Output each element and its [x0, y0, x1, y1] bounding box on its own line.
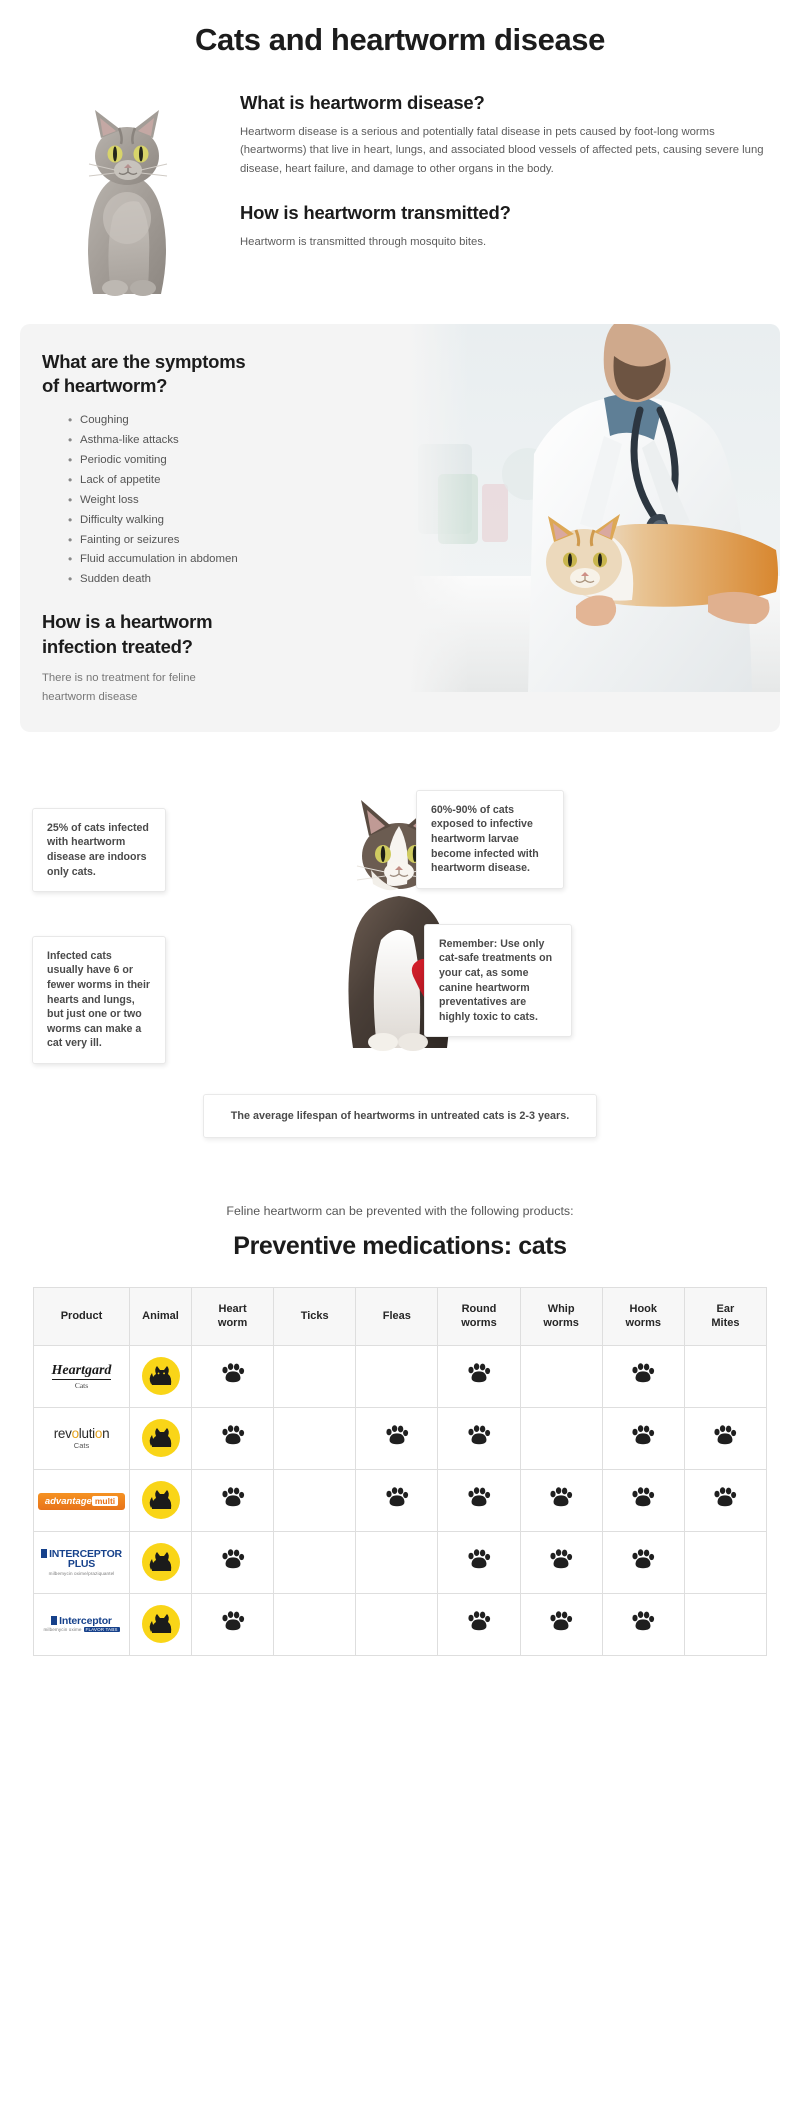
paw-print-icon	[221, 1549, 245, 1576]
mark-cell-heartworm	[192, 1531, 274, 1593]
paw-print-icon	[467, 1425, 491, 1452]
table-header-row: Product Animal Heartworm Ticks Fleas Rou…	[34, 1287, 767, 1345]
mark-cell-fleas	[356, 1345, 438, 1407]
interceptor-plus-logo-sub: milbemycin oxime/praziquantel	[49, 1572, 115, 1577]
preventive-intro: Feline heartworm can be prevented with t…	[0, 1204, 800, 1218]
list-item: Lack of appetite	[68, 471, 350, 491]
mark-cell-whipworms	[520, 1345, 602, 1407]
mark-cell-earmites	[684, 1531, 766, 1593]
fact-box-3-text: Infected cats usually have 6 or fewer wo…	[47, 950, 150, 1050]
paw-print-icon	[631, 1425, 655, 1452]
mark-cell-fleas	[356, 1593, 438, 1655]
mark-cell-ticks	[274, 1469, 356, 1531]
interceptor-flavor-tag: FLAVOR TABS	[84, 1627, 120, 1632]
paw-print-icon	[221, 1425, 245, 1452]
cat-icon	[142, 1605, 180, 1643]
treatment-heading: How is a heartworm infection treated?	[42, 610, 350, 659]
mark-cell-heartworm	[192, 1407, 274, 1469]
product-cell-revolution: revolution Cats	[34, 1407, 130, 1469]
mark-cell-roundworms	[438, 1531, 520, 1593]
list-item: Difficulty walking	[68, 511, 350, 531]
paw-print-icon	[713, 1425, 737, 1452]
cat-icon	[142, 1419, 180, 1457]
fact-box-remember-warning: Remember: Use only cat-safe treatments o…	[424, 924, 572, 1038]
table-header: Product Animal Heartworm Ticks Fleas Rou…	[34, 1287, 767, 1345]
preventive-table-wrapper: Product Animal Heartworm Ticks Fleas Rou…	[33, 1287, 767, 1656]
cat-icon	[142, 1481, 180, 1519]
cat-icon	[142, 1357, 180, 1395]
table-row: advantagemulti	[34, 1469, 767, 1531]
column-header-earmites: EarMites	[684, 1287, 766, 1345]
column-header-heartworm: Heartworm	[192, 1287, 274, 1345]
table-row: Heartgard Cats	[34, 1345, 767, 1407]
table-row: INTERCEPTORPLUS milbemycin oxime/praziqu…	[34, 1531, 767, 1593]
paw-print-icon	[467, 1611, 491, 1638]
interceptor-logo: Interceptor milbemycin oximeFLAVOR TABS	[34, 1616, 129, 1633]
treatment-heading-line1: How is a heartworm	[42, 611, 212, 632]
paw-print-icon	[467, 1549, 491, 1576]
mark-cell-whipworms	[520, 1407, 602, 1469]
revolution-logo-sub: Cats	[74, 1442, 89, 1450]
mark-cell-hookworms	[602, 1469, 684, 1531]
grey-tabby-cat-icon	[53, 98, 203, 298]
table-body: Heartgard Cats	[34, 1345, 767, 1655]
animal-cell	[130, 1407, 192, 1469]
page-title: Cats and heartworm disease	[0, 0, 800, 58]
facts-section: 25% of cats infected with heartworm dise…	[0, 784, 800, 1084]
mark-cell-earmites	[684, 1407, 766, 1469]
fact-box-2-text: 60%-90% of cats exposed to infective hea…	[431, 804, 539, 874]
advantage-logo-name: advantagemulti	[45, 1496, 118, 1507]
symptoms-content: What are the symptoms of heartworm? Coug…	[20, 324, 350, 732]
paw-print-icon	[549, 1611, 573, 1638]
symptoms-heading: What are the symptoms of heartworm?	[42, 350, 350, 399]
list-item: Sudden death	[68, 570, 350, 590]
paw-print-icon	[631, 1363, 655, 1390]
product-cell-interceptor-plus: INTERCEPTORPLUS milbemycin oxime/praziqu…	[34, 1531, 130, 1593]
lifespan-callout: The average lifespan of heartworms in un…	[203, 1094, 597, 1138]
mark-cell-hookworms	[602, 1345, 684, 1407]
veterinarian-photo	[408, 324, 780, 692]
list-item: Fainting or seizures	[68, 531, 350, 551]
paw-print-icon	[467, 1363, 491, 1390]
treatment-heading-line2: infection treated?	[42, 636, 193, 657]
cat-icon	[142, 1543, 180, 1581]
column-header-ticks: Ticks	[274, 1287, 356, 1345]
paw-print-icon	[221, 1487, 245, 1514]
paw-print-icon	[631, 1549, 655, 1576]
paw-print-icon	[631, 1611, 655, 1638]
paw-print-icon	[385, 1487, 409, 1514]
how-transmitted-body: Heartworm is transmitted through mosquit…	[240, 233, 770, 251]
paw-print-icon	[221, 1611, 245, 1638]
symptoms-heading-line2: of heartworm?	[42, 375, 167, 396]
intro-cat-image	[30, 88, 226, 298]
what-is-heartworm-body: Heartworm disease is a serious and poten…	[240, 123, 770, 178]
mark-cell-ticks	[274, 1407, 356, 1469]
heartgard-logo-name: Heartgard	[52, 1364, 112, 1380]
paw-print-icon	[713, 1487, 737, 1514]
mark-cell-earmites	[684, 1593, 766, 1655]
how-transmitted-heading: How is heartworm transmitted?	[240, 202, 770, 224]
what-is-heartworm-heading: What is heartworm disease?	[240, 92, 770, 114]
mark-cell-ticks	[274, 1531, 356, 1593]
mark-cell-whipworms	[520, 1593, 602, 1655]
preventive-title: Preventive medications: cats	[0, 1232, 800, 1261]
treatment-body: There is no treatment for feline heartwo…	[42, 669, 227, 706]
column-header-hookworms: Hookworms	[602, 1287, 684, 1345]
table-row: revolution Cats	[34, 1407, 767, 1469]
fact-box-indoor-cats: 25% of cats infected with heartworm dise…	[32, 808, 166, 892]
mark-cell-whipworms	[520, 1469, 602, 1531]
symptoms-list: Coughing Asthma-like attacks Periodic vo…	[68, 411, 350, 591]
mark-cell-ticks	[274, 1345, 356, 1407]
mark-cell-hookworms	[602, 1531, 684, 1593]
lifespan-text: The average lifespan of heartworms in un…	[231, 1110, 569, 1122]
mark-cell-heartworm	[192, 1593, 274, 1655]
mark-cell-earmites	[684, 1345, 766, 1407]
mark-cell-hookworms	[602, 1593, 684, 1655]
product-cell-interceptor: Interceptor milbemycin oximeFLAVOR TABS	[34, 1593, 130, 1655]
paw-print-icon	[221, 1363, 245, 1390]
animal-cell	[130, 1531, 192, 1593]
revolution-logo-name: revolution	[54, 1427, 110, 1441]
column-header-product: Product	[34, 1287, 130, 1345]
mark-cell-hookworms	[602, 1407, 684, 1469]
heartgard-logo-sub: Cats	[75, 1382, 88, 1390]
mark-cell-heartworm	[192, 1345, 274, 1407]
intro-text-block: What is heartworm disease? Heartworm dis…	[240, 88, 770, 298]
animal-cell	[130, 1469, 192, 1531]
mark-cell-fleas	[356, 1469, 438, 1531]
paw-print-icon	[549, 1487, 573, 1514]
paw-print-icon	[385, 1425, 409, 1452]
heartgard-logo: Heartgard Cats	[34, 1364, 129, 1390]
list-item: Coughing	[68, 411, 350, 431]
list-item: Periodic vomiting	[68, 451, 350, 471]
intro-section: What is heartworm disease? Heartworm dis…	[0, 58, 800, 298]
fact-box-4-text: Use only cat-safe treatments on your cat…	[439, 938, 552, 1023]
preventive-medications-table: Product Animal Heartworm Ticks Fleas Rou…	[33, 1287, 767, 1656]
fact-box-4-lead: Remember:	[439, 938, 497, 950]
vet-with-cat-illustration	[408, 324, 780, 692]
mark-cell-heartworm	[192, 1469, 274, 1531]
product-cell-advantage-multi: advantagemulti	[34, 1469, 130, 1531]
animal-cell	[130, 1593, 192, 1655]
mark-cell-roundworms	[438, 1407, 520, 1469]
mark-cell-fleas	[356, 1531, 438, 1593]
mark-cell-fleas	[356, 1407, 438, 1469]
animal-cell	[130, 1345, 192, 1407]
paw-print-icon	[467, 1487, 491, 1514]
column-header-whipworms: Whipworms	[520, 1287, 602, 1345]
interceptor-logo-sub: milbemycin oximeFLAVOR TABS	[43, 1628, 119, 1633]
fact-box-1-text: 25% of cats infected with heartworm dise…	[47, 822, 149, 878]
column-header-roundworms: Roundworms	[438, 1287, 520, 1345]
interceptor-plus-logo: INTERCEPTORPLUS milbemycin oxime/praziqu…	[34, 1549, 129, 1577]
paw-print-icon	[549, 1549, 573, 1576]
column-header-animal: Animal	[130, 1287, 192, 1345]
list-item: Fluid accumulation in abdomen	[68, 550, 350, 570]
table-row: Interceptor milbemycin oximeFLAVOR TABS	[34, 1593, 767, 1655]
fact-box-exposure-rate: 60%-90% of cats exposed to infective hea…	[416, 790, 564, 889]
mark-cell-earmites	[684, 1469, 766, 1531]
list-item: Asthma-like attacks	[68, 431, 350, 451]
mark-cell-roundworms	[438, 1469, 520, 1531]
product-cell-heartgard: Heartgard Cats	[34, 1345, 130, 1407]
paw-print-icon	[631, 1487, 655, 1514]
symptoms-panel: What are the symptoms of heartworm? Coug…	[20, 324, 780, 732]
mark-cell-roundworms	[438, 1345, 520, 1407]
list-item: Weight loss	[68, 491, 350, 511]
interceptor-plus-logo-name: INTERCEPTORPLUS	[41, 1549, 122, 1570]
fact-box-worm-count: Infected cats usually have 6 or fewer wo…	[32, 936, 166, 1064]
mark-cell-roundworms	[438, 1593, 520, 1655]
revolution-logo: revolution Cats	[34, 1427, 129, 1450]
column-header-fleas: Fleas	[356, 1287, 438, 1345]
advantage-multi-logo: advantagemulti	[38, 1493, 125, 1510]
symptoms-heading-line1: What are the symptoms	[42, 351, 245, 372]
infographic-page: Cats and heartworm disease	[0, 0, 800, 1696]
interceptor-logo-name: Interceptor	[51, 1616, 112, 1627]
mark-cell-ticks	[274, 1593, 356, 1655]
mark-cell-whipworms	[520, 1531, 602, 1593]
